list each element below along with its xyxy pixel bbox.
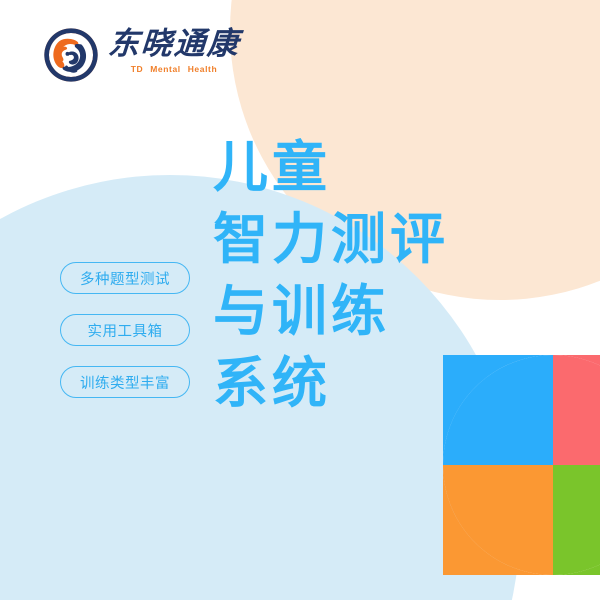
logo-brand-en: TD Mental Health	[108, 64, 240, 74]
feature-pill-toolbox[interactable]: 实用工具箱	[60, 314, 190, 346]
title-line-2: 智力测评	[213, 203, 473, 275]
title-line-3: 与训练	[213, 275, 473, 347]
title-line-4: 系统	[213, 347, 473, 419]
logo-wordmark: 东晓通康 TD Mental Health	[108, 26, 240, 74]
logo-brand-cn: 东晓通康	[107, 28, 241, 61]
page-title: 儿童 智力测评 与训练 系统	[213, 131, 473, 419]
logo-emblem-icon	[42, 26, 100, 84]
blade-top-right	[553, 355, 600, 465]
poster-canvas: 东晓通康 TD Mental Health 儿童 智力测评 与训练 系统 多种题…	[0, 0, 600, 600]
title-line-1: 儿童	[213, 131, 473, 203]
brand-logo[interactable]: 东晓通康 TD Mental Health	[42, 26, 240, 84]
feature-pill-training-variety[interactable]: 训练类型丰富	[60, 366, 190, 398]
feature-pill-question-types[interactable]: 多种题型测试	[60, 262, 190, 294]
feature-pill-list: 多种题型测试 实用工具箱 训练类型丰富	[60, 262, 190, 398]
blade-bottom-right	[553, 465, 600, 575]
